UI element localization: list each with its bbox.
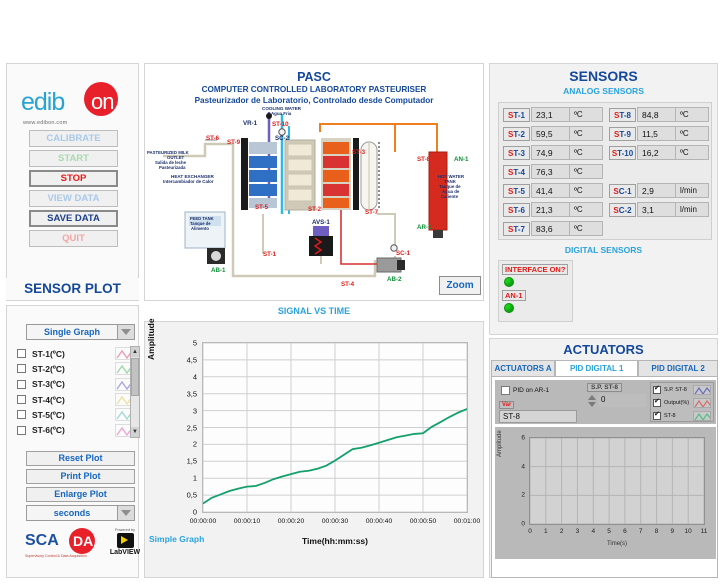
- status-led-icon: [504, 303, 514, 313]
- sensor-value: 83,6: [531, 221, 569, 236]
- sensor-legend-list: ST-1(ºC)ST-2(ºC)ST-3(ºC)ST-4(ºC)ST-5(ºC)…: [17, 346, 137, 438]
- sensor-reading-row: ST-123,1ºC: [503, 106, 603, 123]
- pid-x-tick: 6: [623, 528, 627, 535]
- checkbox-icon[interactable]: [17, 380, 26, 389]
- diagram-label-st-5: ST-5: [255, 204, 268, 211]
- diagram-label-st-4: ST-4: [341, 281, 354, 288]
- checkbox-icon[interactable]: [17, 426, 26, 435]
- tab-pid-digital-2[interactable]: PID DIGITAL 2: [638, 360, 718, 377]
- sensor-tag: ST-9: [609, 127, 636, 141]
- chart-x-tick: 00:00:40: [366, 518, 392, 525]
- sensor-value: 11,5: [637, 126, 675, 141]
- actuators-title: ACTUATORS: [490, 342, 717, 357]
- pid-chart-plot-area[interactable]: [529, 437, 705, 525]
- scada-subtitle: Supervisory Control & Data Acquisition: [25, 554, 87, 558]
- chart-plot-area[interactable]: [202, 342, 468, 513]
- chart-x-tick: 00:00:50: [410, 518, 436, 525]
- sensor-unit: ºC: [675, 107, 709, 122]
- diagram-label-avs-1: AVS-1: [312, 219, 330, 226]
- sensor-value: 59,5: [531, 126, 569, 141]
- sensors-panel: SENSORS ANALOG SENSORS ST-123,1ºCST-259,…: [489, 63, 718, 335]
- chart-x-tick: 00:01:00: [454, 518, 480, 525]
- pid-x-tick: 4: [591, 528, 595, 535]
- chart-y-tick: 4,5: [173, 355, 197, 364]
- scada-logo: SCA DA Supervisory Control & Data Acquis…: [25, 528, 100, 562]
- pid-legend-item[interactable]: S.P. ST-8: [651, 383, 713, 396]
- pid-x-tick: 7: [639, 528, 643, 535]
- sensor-unit: ºC: [569, 145, 603, 160]
- pid-chart-panel: Amplitude 0246 01234567891011 Time(s): [495, 427, 716, 559]
- process-diagram: PASC COMPUTER CONTROLLED LABORATORY PAST…: [144, 63, 484, 301]
- diagram-label-cooling-water-es: Agua Fria: [271, 111, 291, 116]
- edibon-logo: edib on www.edibon.com: [21, 82, 126, 128]
- sensor-tag: ST-2: [503, 127, 530, 141]
- chart-y-tick: 0,5: [173, 491, 197, 500]
- pid-legend-list: S.P. ST-8Output(%)ST-8: [650, 382, 714, 422]
- graph-mode-value: Single Graph: [27, 327, 117, 337]
- chart-x-tick: 00:00:30: [322, 518, 348, 525]
- edibon-url: www.edibon.com: [23, 120, 67, 126]
- stop-button[interactable]: STOP: [29, 170, 118, 187]
- sensor-value: 2,9: [637, 183, 675, 198]
- diagram-label-st-8: ST-8: [417, 156, 430, 163]
- zoom-button[interactable]: Zoom: [439, 276, 481, 295]
- control-panel: edib on www.edibon.com CALIBRATE START S…: [6, 63, 139, 301]
- pid-y-tick: 2: [509, 492, 525, 499]
- digital-sensors-title: DIGITAL SENSORS: [490, 245, 717, 255]
- diagram-label-st-9: ST-9: [227, 139, 240, 146]
- sensor-unit: ºC: [569, 221, 603, 236]
- scada-wordmark: SCA: [25, 532, 59, 550]
- pid-x-tick: 1: [544, 528, 548, 535]
- signal-chart-panel: Amplitude 00,511,522,533,544,55 00:00:00…: [144, 321, 484, 578]
- diagram-label-an-1: AN-1: [454, 156, 468, 163]
- checkbox-icon[interactable]: [653, 386, 661, 394]
- sensor-tag: ST-10: [609, 146, 636, 160]
- diagram-label-sc-1: SC-1: [396, 250, 410, 257]
- scrollbar-thumb[interactable]: [131, 358, 139, 396]
- sensor-tag: SC-1: [609, 184, 636, 198]
- digital-sensor-box: INTERFACE ON?AN-1: [498, 260, 573, 322]
- pid-y-tick: 4: [509, 463, 525, 470]
- pid-x-tick: 10: [685, 528, 692, 535]
- sensor-reading-row: ST-911,5ºC: [609, 125, 709, 142]
- checkbox-icon[interactable]: [653, 399, 661, 407]
- chevron-down-icon: [117, 325, 134, 339]
- pid-chart-svg: [530, 438, 704, 524]
- sensor-value: 21,3: [531, 202, 569, 217]
- sensor-legend-label: ST-1(ºC): [32, 349, 115, 359]
- checkbox-icon[interactable]: [17, 349, 26, 358]
- sensor-legend-label: ST-2(ºC): [32, 364, 115, 374]
- edibon-wordmark: edib: [21, 88, 64, 117]
- sensor-value: 41,4: [531, 183, 569, 198]
- labview-name: LabVIEW: [107, 549, 143, 556]
- sensor-value: 84,8: [637, 107, 675, 122]
- pid-x-tick: 8: [655, 528, 659, 535]
- chart-series-label: Simple Graph: [149, 534, 204, 544]
- checkbox-icon[interactable]: [653, 412, 661, 420]
- diagram-label-heat-exchanger-2: Intercambiador de Calor: [163, 179, 214, 184]
- powered-by-label: Powered by: [107, 528, 143, 532]
- diagram-label-milk-tank-3: Alimento: [191, 226, 209, 231]
- sensor-unit: ºC: [569, 202, 603, 217]
- sensor-reading-row: ST-621,3ºC: [503, 201, 603, 218]
- sensor-unit: ºC: [569, 183, 603, 198]
- pid-y-tick: 0: [509, 521, 525, 528]
- calibrate-button[interactable]: CALIBRATE: [29, 130, 118, 147]
- legend-scrollbar[interactable]: ▲ ▼: [130, 346, 140, 438]
- save-data-button[interactable]: SAVE DATA: [29, 210, 118, 227]
- sensor-tag: ST-8: [609, 108, 636, 122]
- chart-y-tick: 1: [173, 474, 197, 483]
- diagram-label-vr-1: VR-1: [243, 120, 257, 127]
- chart-x-axis-label: Time(hh:mm:ss): [202, 536, 468, 546]
- diagram-label-sc-2: SC-2: [275, 135, 289, 142]
- quit-button[interactable]: QUIT: [29, 230, 118, 247]
- sensor-tag: ST-3: [503, 146, 530, 160]
- sensor-unit: l/min: [675, 183, 709, 198]
- digital-sensor-item: AN-1: [499, 287, 572, 313]
- chart-y-tick: 3,5: [173, 389, 197, 398]
- tab-actuators-a[interactable]: ACTUATORS A: [491, 360, 555, 377]
- diagram-label-st-10: ST-10: [272, 121, 289, 128]
- pid-var-label: Var: [499, 401, 514, 409]
- tab-pid-digital-1[interactable]: PID DIGITAL 1: [555, 360, 638, 377]
- digital-sensor-label: INTERFACE ON?: [502, 264, 568, 275]
- sensor-unit: l/min: [675, 202, 709, 217]
- pid-color-swatch[interactable]: [693, 385, 711, 395]
- digital-sensor-item: INTERFACE ON?: [499, 261, 572, 287]
- digital-sensor-label: AN-1: [502, 290, 526, 301]
- sensor-unit: ºC: [569, 126, 603, 141]
- chart-x-tick: 00:00:00: [190, 518, 216, 525]
- sensor-tag: ST-6: [503, 203, 530, 217]
- checkbox-icon[interactable]: [17, 410, 26, 419]
- diagram-label-ar-1: AR-1: [417, 224, 431, 231]
- pid-control-bar: PID on AR-1 Var ST-8 S.P. ST-8 0 S.P. ST…: [495, 380, 716, 424]
- pid-chart-x-label: Time(s): [529, 541, 705, 547]
- sensor-reading-row: ST-374,9ºC: [503, 144, 603, 161]
- sensor-legend-item[interactable]: ST-2(ºC): [17, 361, 137, 376]
- pid-y-tick: 6: [509, 435, 525, 442]
- sensor-tag: ST-1: [503, 108, 530, 122]
- pid-var-select[interactable]: ST-8: [499, 410, 577, 423]
- pid-legend-label: Output(%): [664, 400, 693, 406]
- status-led-icon: [504, 277, 514, 287]
- pid-color-swatch[interactable]: [693, 411, 711, 421]
- diagram-label-st-1: ST-1: [263, 251, 276, 258]
- chart-y-tick: 2: [173, 440, 197, 449]
- pid-legend-label: S.P. ST-8: [664, 387, 693, 393]
- scroll-up-icon[interactable]: ▲: [131, 347, 139, 357]
- sensor-reading-row: ST-884,8ºC: [609, 106, 709, 123]
- pid-x-tick: 5: [607, 528, 611, 535]
- actuators-panel: ACTUATORS ACTUATORS APID DIGITAL 1PID DI…: [489, 338, 718, 578]
- sensor-plot-panel: Single Graph ST-1(ºC)ST-2(ºC)ST-3(ºC)ST-…: [6, 305, 139, 578]
- checkbox-icon: [501, 386, 510, 395]
- diagram-label-st-3: ST-3: [352, 149, 365, 156]
- chart-x-tick: 00:00:10: [234, 518, 260, 525]
- diagram-label-pasteurized-milk-4: Pasteurizada: [159, 165, 186, 170]
- labview-play-icon: [117, 533, 134, 548]
- sensor-value: 74,9: [531, 145, 569, 160]
- checkbox-icon[interactable]: [17, 364, 26, 373]
- diagram-label-st-2: ST-2: [308, 206, 321, 213]
- sensor-value: 3,1: [637, 202, 675, 217]
- sensor-reading-row: ST-476,3ºC: [503, 163, 603, 180]
- pid-x-tick: 11: [701, 528, 708, 535]
- view-data-button[interactable]: VIEW DATA: [29, 190, 118, 207]
- diagram-label-hot-water-5: Caliente: [441, 194, 458, 199]
- sensor-legend-item[interactable]: ST-4(ºC): [17, 392, 137, 407]
- pid-legend-label: ST-8: [664, 413, 693, 419]
- sensor-value: 16,2: [637, 145, 675, 160]
- sensor-reading-row: SC-12,9l/min: [609, 182, 709, 199]
- sensor-tag: SC-2: [609, 203, 636, 217]
- edibon-wordmark-accent: on: [91, 89, 113, 115]
- sensor-tag: ST-5: [503, 184, 530, 198]
- pid-x-tick: 9: [671, 528, 675, 535]
- chart-y-tick: 5: [173, 339, 197, 348]
- reset-plot-button[interactable]: Reset Plot: [26, 451, 135, 466]
- sensor-tag: ST-4: [503, 165, 530, 179]
- chevron-down-icon: [117, 506, 134, 520]
- sensor-reading-row: ST-783,6ºC: [503, 220, 603, 237]
- diagram-label-ab-1: AB-1: [211, 267, 225, 274]
- labview-logo: Powered by LabVIEW: [107, 528, 143, 562]
- chart-y-tick: 1,5: [173, 457, 197, 466]
- sensor-plot-title: SENSOR PLOT: [6, 278, 139, 300]
- print-plot-button[interactable]: Print Plot: [26, 469, 135, 484]
- chart-y-tick: 3: [173, 406, 197, 415]
- chart-x-tick: 00:00:20: [278, 518, 304, 525]
- chart-y-tick: 4: [173, 372, 197, 381]
- pid-color-swatch[interactable]: [693, 398, 711, 408]
- sensor-reading-row: ST-1016,2ºC: [609, 144, 709, 161]
- sensors-title: SENSORS: [490, 68, 717, 84]
- actuators-tab-bar: ACTUATORS APID DIGITAL 1PID DIGITAL 2: [491, 360, 718, 377]
- pid-legend-item[interactable]: Output(%): [651, 396, 713, 409]
- sensor-legend-item[interactable]: ST-6(ºC): [17, 422, 137, 437]
- analog-sensor-grid: ST-123,1ºCST-259,5ºCST-374,9ºCST-476,3ºC…: [498, 102, 712, 240]
- sensor-reading-row: ST-259,5ºC: [503, 125, 603, 142]
- pid-enable-label: PID on AR-1: [513, 387, 549, 394]
- sensor-unit: ºC: [675, 126, 709, 141]
- pid-digital-1-panel: PID on AR-1 Var ST-8 S.P. ST-8 0 S.P. ST…: [491, 376, 718, 578]
- diagram-label-ab-2: AB-2: [387, 276, 401, 283]
- sensor-value: 76,3: [531, 164, 569, 179]
- sensor-reading-row: ST-541,4ºC: [503, 182, 603, 199]
- chart-y-axis-label: Amplitude: [146, 318, 156, 360]
- sensor-legend-label: ST-4(ºC): [32, 395, 115, 405]
- sensor-legend-item[interactable]: ST-5(ºC): [17, 407, 137, 422]
- sensor-tag: ST-7: [503, 222, 530, 236]
- chart-y-tick: 2,5: [173, 423, 197, 432]
- pid-legend-item[interactable]: ST-8: [651, 409, 713, 422]
- time-units-value: seconds: [27, 508, 117, 518]
- diagram-label-st-6: ST-6: [206, 135, 219, 142]
- pid-setpoint-label: S.P. ST-8: [587, 383, 622, 392]
- pid-enable-checkbox[interactable]: PID on AR-1: [501, 386, 549, 395]
- sensor-unit: ºC: [675, 145, 709, 160]
- checkbox-icon[interactable]: [17, 395, 26, 404]
- diagram-label-st-7: ST-7: [365, 209, 378, 216]
- pid-x-tick: 2: [560, 528, 564, 535]
- analog-sensors-title: ANALOG SENSORS: [490, 86, 717, 96]
- sensor-legend-item[interactable]: ST-3(ºC): [17, 377, 137, 392]
- scada-da-text: DA: [73, 533, 93, 549]
- pid-setpoint-input[interactable]: 0: [598, 394, 646, 407]
- pid-x-tick: 3: [576, 528, 580, 535]
- sensor-legend-item[interactable]: ST-1(ºC): [17, 346, 137, 361]
- enlarge-plot-button[interactable]: Enlarge Plot: [26, 487, 135, 502]
- pid-chart-y-label: Amplitude: [497, 430, 503, 457]
- sensor-legend-label: ST-5(ºC): [32, 410, 115, 420]
- sensor-reading-row: SC-23,1l/min: [609, 201, 709, 218]
- sensor-unit: ºC: [569, 164, 603, 179]
- pid-setpoint-stepper[interactable]: [587, 394, 597, 408]
- sensor-legend-label: ST-6(ºC): [32, 425, 115, 435]
- sensor-value: 23,1: [531, 107, 569, 122]
- graph-mode-select[interactable]: Single Graph: [26, 324, 135, 340]
- sensor-unit: ºC: [569, 107, 603, 122]
- signal-vs-time-title: SIGNAL VS TIME: [144, 303, 484, 319]
- pid-x-tick: 0: [528, 528, 532, 535]
- sensor-legend-label: ST-3(ºC): [32, 379, 115, 389]
- chart-svg: [203, 343, 467, 512]
- start-button[interactable]: START: [29, 150, 118, 167]
- chart-y-tick: 0: [173, 508, 197, 517]
- time-units-select[interactable]: seconds: [26, 505, 135, 521]
- scroll-down-icon[interactable]: ▼: [131, 427, 139, 437]
